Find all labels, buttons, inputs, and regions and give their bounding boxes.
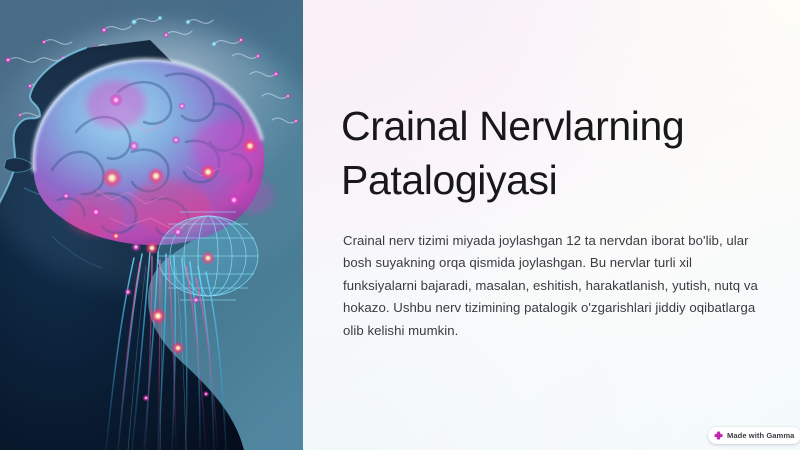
gamma-flower-icon xyxy=(714,431,723,440)
gamma-badge-label: Made with Gamma xyxy=(727,432,794,440)
slide-body-text: Crainal nerv tizimi miyada joylashgan 12… xyxy=(343,230,759,342)
illustration-glow-wash xyxy=(0,30,303,290)
brain-illustration-image xyxy=(0,0,303,450)
brain-illustration-svg xyxy=(0,0,303,450)
presentation-slide: Crainal Nervlarning Patalogiyasi Crainal… xyxy=(0,0,800,450)
slide-content-panel: Crainal Nervlarning Patalogiyasi Crainal… xyxy=(303,0,800,450)
page-title: Crainal Nervlarning Patalogiyasi xyxy=(341,99,741,207)
made-with-gamma-badge[interactable]: Made with Gamma xyxy=(708,427,800,444)
